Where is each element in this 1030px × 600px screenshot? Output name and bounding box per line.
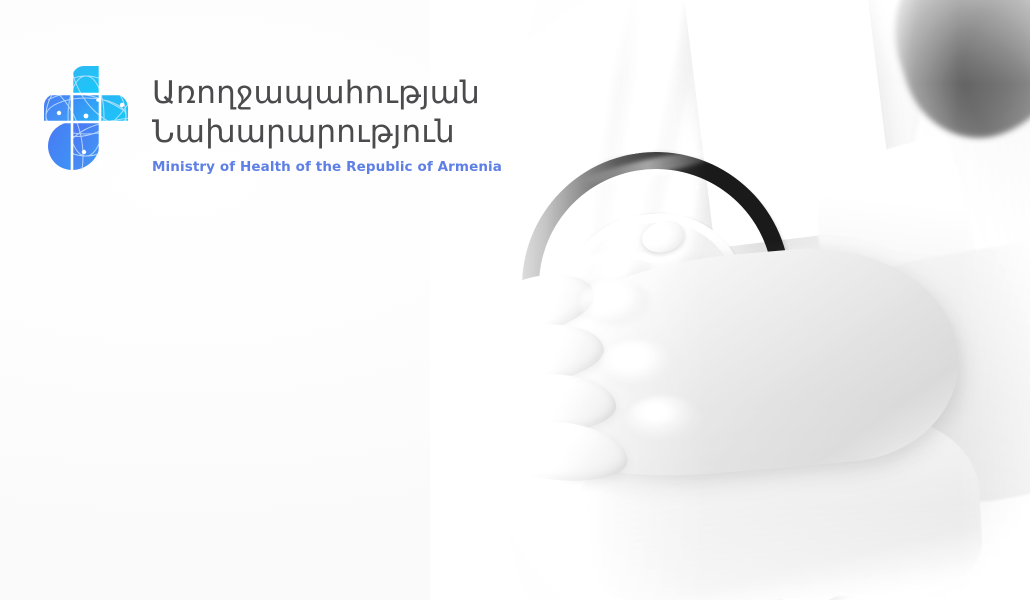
ministry-title-line-1: Առողջապահության bbox=[152, 74, 502, 113]
brand-lockup: Առողջապահության Նախարարություն Ministry … bbox=[38, 60, 502, 176]
wordmark: Առողջապահության Նախարարություն Ministry … bbox=[152, 60, 502, 175]
photo-content bbox=[430, 0, 1030, 600]
ministry-subtitle-english: Ministry of Health of the Republic of Ar… bbox=[152, 159, 502, 175]
doctor-holding-stethoscope-photo bbox=[430, 0, 1030, 600]
medical-cross-network-globe-logo bbox=[38, 60, 134, 176]
knuckle-highlight bbox=[600, 340, 680, 390]
knuckle-highlight bbox=[580, 280, 650, 326]
stethoscope-specular-dot bbox=[696, 186, 699, 189]
health-ministry-banner: Առողջապահության Նախարարություն Ministry … bbox=[0, 0, 1030, 600]
knuckle-highlight bbox=[626, 396, 702, 442]
ministry-title-line-2: Նախարարություն bbox=[152, 113, 502, 152]
